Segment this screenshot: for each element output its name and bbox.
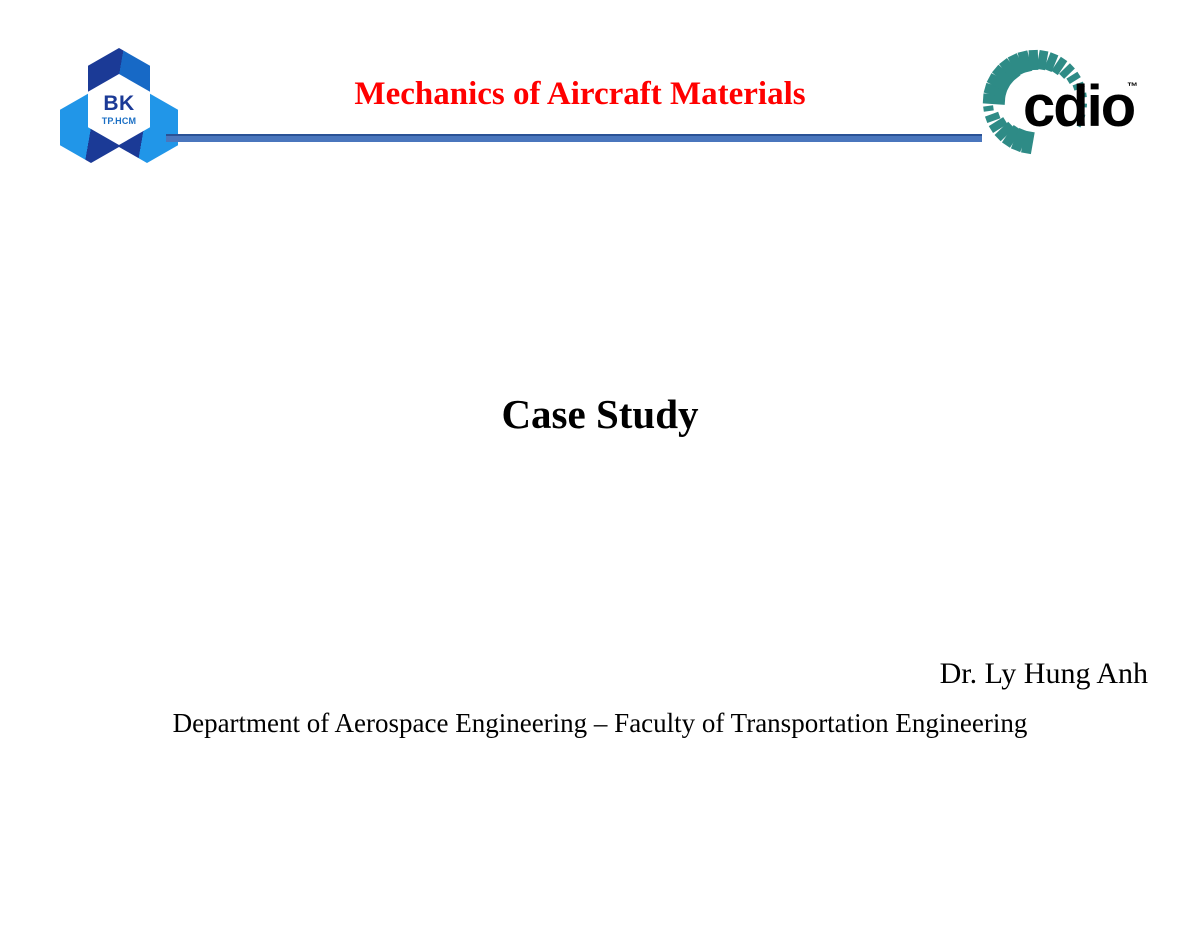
cdio-wordmark: cdio xyxy=(1023,78,1134,136)
slide-header: BK TP.HCM Mechanics of Aircraft Material… xyxy=(0,0,1200,180)
author-name: Dr. Ly Hung Anh xyxy=(0,657,1148,692)
cdio-trademark-symbol: ™ xyxy=(1127,82,1138,93)
page-title: Mechanics of Aircraft Materials xyxy=(190,76,970,114)
cdio-logo: cdio ™ xyxy=(975,48,1150,156)
slide-canvas: BK TP.HCM Mechanics of Aircraft Material… xyxy=(0,0,1200,927)
bk-logo-subtitle: TP.HCM xyxy=(102,117,137,126)
bk-logo-initials: BK xyxy=(103,93,134,114)
header-divider xyxy=(166,134,982,142)
case-study-heading: Case Study xyxy=(0,391,1200,438)
department-affiliation: Department of Aerospace Engineering – Fa… xyxy=(0,708,1200,739)
bk-logo: BK TP.HCM xyxy=(60,48,178,170)
